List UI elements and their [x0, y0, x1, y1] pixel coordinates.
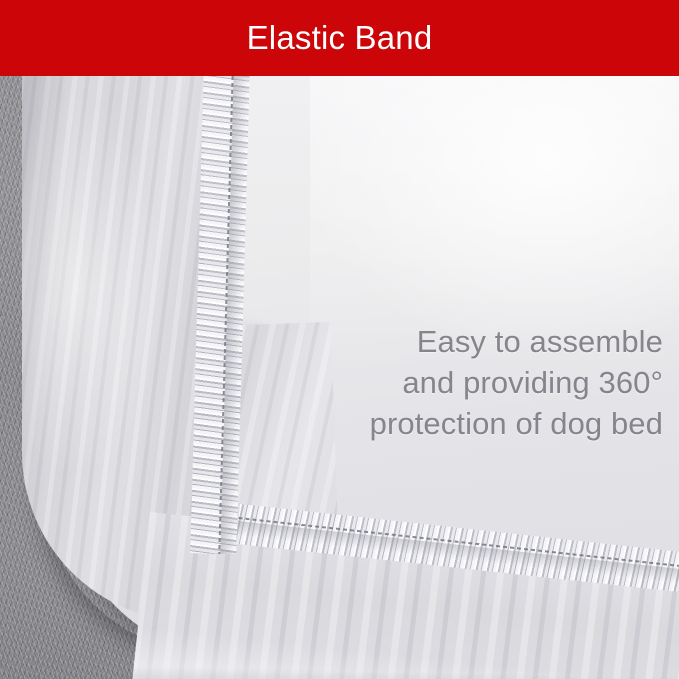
- caption-line-3: protection of dog bed: [243, 403, 663, 444]
- product-photo: Easy to assemble and providing 360° prot…: [0, 76, 679, 679]
- product-image: Easy to assemble and providing 360° prot…: [0, 0, 679, 679]
- caption-line-2: and providing 360°: [243, 362, 663, 403]
- feature-caption: Easy to assemble and providing 360° prot…: [243, 321, 663, 444]
- header-banner: Elastic Band: [0, 0, 679, 76]
- banner-title: Elastic Band: [0, 0, 679, 76]
- caption-line-1: Easy to assemble: [243, 321, 663, 362]
